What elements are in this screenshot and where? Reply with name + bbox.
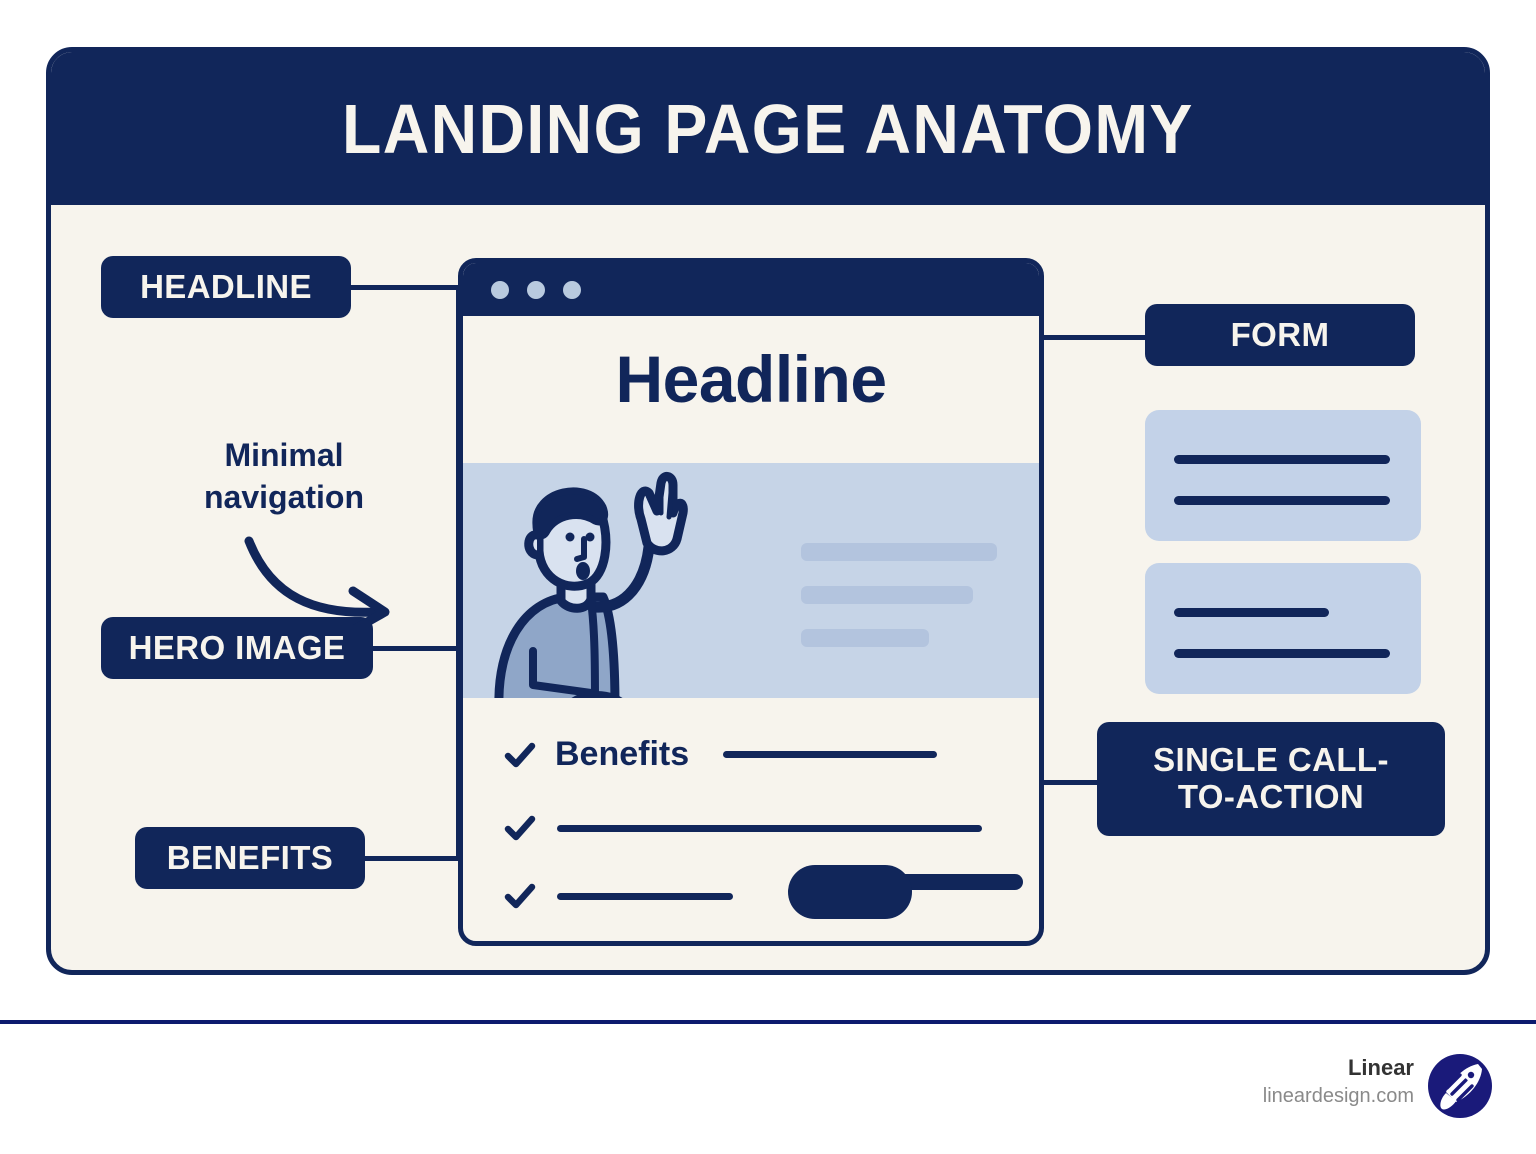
label-hero-image[interactable]: HERO IMAGE [101,617,373,679]
form-field-2-line-2 [1174,649,1390,658]
minimal-navigation-line2: navigation [179,476,389,518]
window-dot-minimize-icon[interactable] [527,281,545,299]
connector-headline [348,285,461,290]
browser-mockup: Headline [458,258,1044,946]
check-icon [503,738,537,772]
benefit-row-2 [503,811,982,845]
benefit-row-1: Benefits [503,735,937,774]
hero-placeholder-lines [801,543,997,672]
form-field-card-2[interactable] [1145,563,1421,694]
form-field-2-line-1 [1174,608,1329,617]
brand-url: lineardesign.com [1263,1085,1414,1108]
hero-placeholder-line-1 [801,543,997,561]
header-band: LANDING PAGE ANATOMY [51,52,1485,205]
label-single-cta[interactable]: SINGLE CALL- TO-ACTION [1097,722,1445,836]
mock-hero-image [463,463,1039,698]
check-icon [503,879,537,913]
connector-hero-image [369,646,461,651]
mock-headline: Headline [463,341,1039,417]
footer-brand: Linear lineardesign.com [1263,1055,1414,1108]
connector-cta [1037,780,1097,785]
label-single-cta-line2: TO-ACTION [1178,779,1364,816]
form-field-card-1[interactable] [1145,410,1421,541]
mock-benefits-section: Benefits [463,713,1039,943]
footer-divider [0,1020,1536,1024]
hero-placeholder-line-2 [801,586,973,604]
connector-form [1037,335,1145,340]
curved-arrow-icon [237,535,407,625]
label-headline-text: HEADLINE [140,269,312,306]
benefit-label-1: Benefits [555,735,689,774]
page-title: LANDING PAGE ANATOMY [342,89,1194,169]
label-single-cta-line1: SINGLE CALL- [1153,742,1389,779]
form-field-1-line-1 [1174,455,1390,464]
infographic-card: LANDING PAGE ANATOMY HEADLINE HERO IMAGE… [46,47,1490,975]
hero-placeholder-line-3 [801,629,929,647]
label-headline[interactable]: HEADLINE [101,256,351,318]
benefit-line-2 [557,825,982,832]
label-benefits[interactable]: BENEFITS [135,827,365,889]
browser-chrome-bar [463,263,1039,316]
label-form-text: FORM [1231,317,1330,354]
label-hero-image-text: HERO IMAGE [129,630,346,667]
infographic-canvas: LANDING PAGE ANATOMY HEADLINE HERO IMAGE… [0,0,1536,1154]
window-dot-close-icon[interactable] [491,281,509,299]
benefit-row-3 [503,879,733,913]
cta-button[interactable] [788,865,912,919]
benefit-line-1 [723,751,937,758]
label-benefits-text: BENEFITS [167,840,333,877]
minimal-navigation-line1: Minimal [179,434,389,476]
form-field-1-line-2 [1174,496,1390,505]
connector-benefits [360,856,461,861]
brand-name: Linear [1263,1055,1414,1081]
window-dot-maximize-icon[interactable] [563,281,581,299]
rocket-logo-icon [1426,1052,1494,1120]
minimal-navigation-note: Minimal navigation [179,434,389,518]
label-form[interactable]: FORM [1145,304,1415,366]
benefit-line-3 [557,893,733,900]
check-icon [503,811,537,845]
waving-person-illustration [491,469,701,698]
